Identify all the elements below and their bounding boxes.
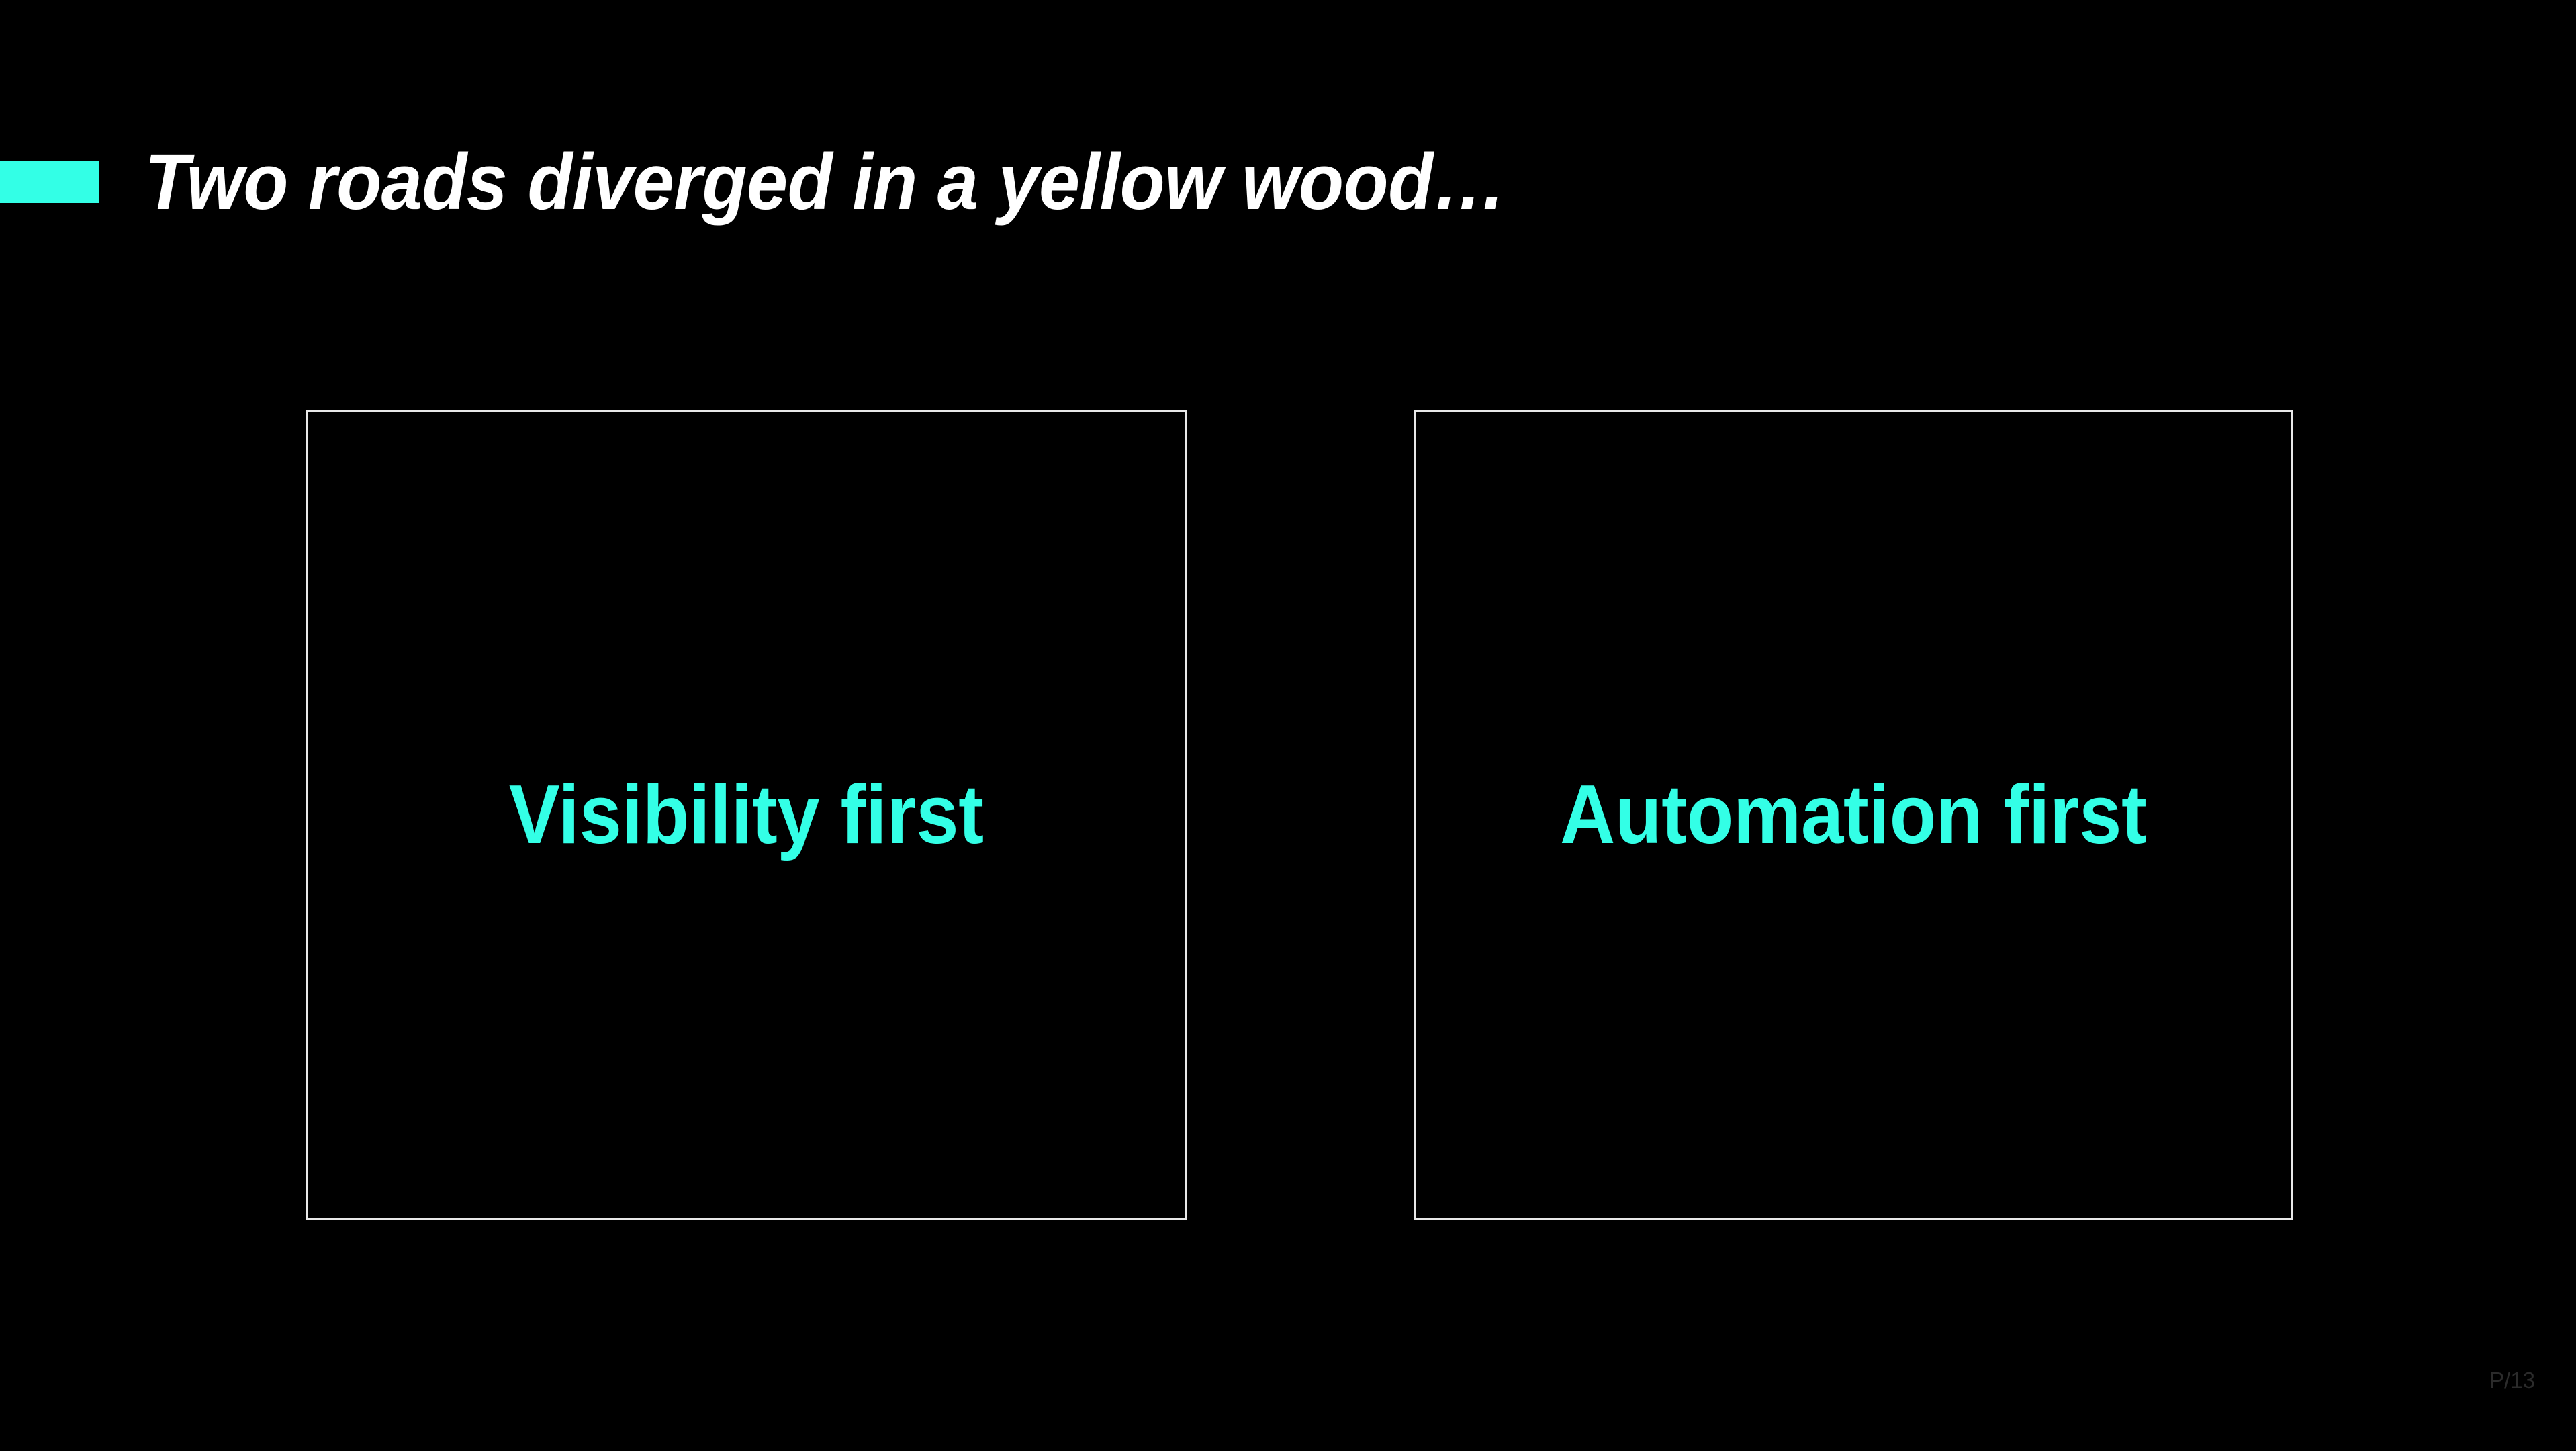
slide-canvas: Two roads diverged in a yellow wood… Vis… xyxy=(0,0,2576,1451)
options-container: Visibility first Automation first xyxy=(306,410,2293,1220)
slide-header: Two roads diverged in a yellow wood… xyxy=(0,138,2576,226)
page-title: Two roads diverged in a yellow wood… xyxy=(144,142,1506,222)
accent-bar-icon xyxy=(0,161,99,203)
option-card-label: Automation first xyxy=(1560,773,2147,856)
option-card-automation-first[interactable]: Automation first xyxy=(1414,410,2293,1220)
option-card-label: Visibility first xyxy=(509,773,984,856)
page-number: P/13 xyxy=(2489,1369,2535,1391)
option-card-visibility-first[interactable]: Visibility first xyxy=(306,410,1187,1220)
slide-footer: P/13 xyxy=(0,1364,2576,1404)
